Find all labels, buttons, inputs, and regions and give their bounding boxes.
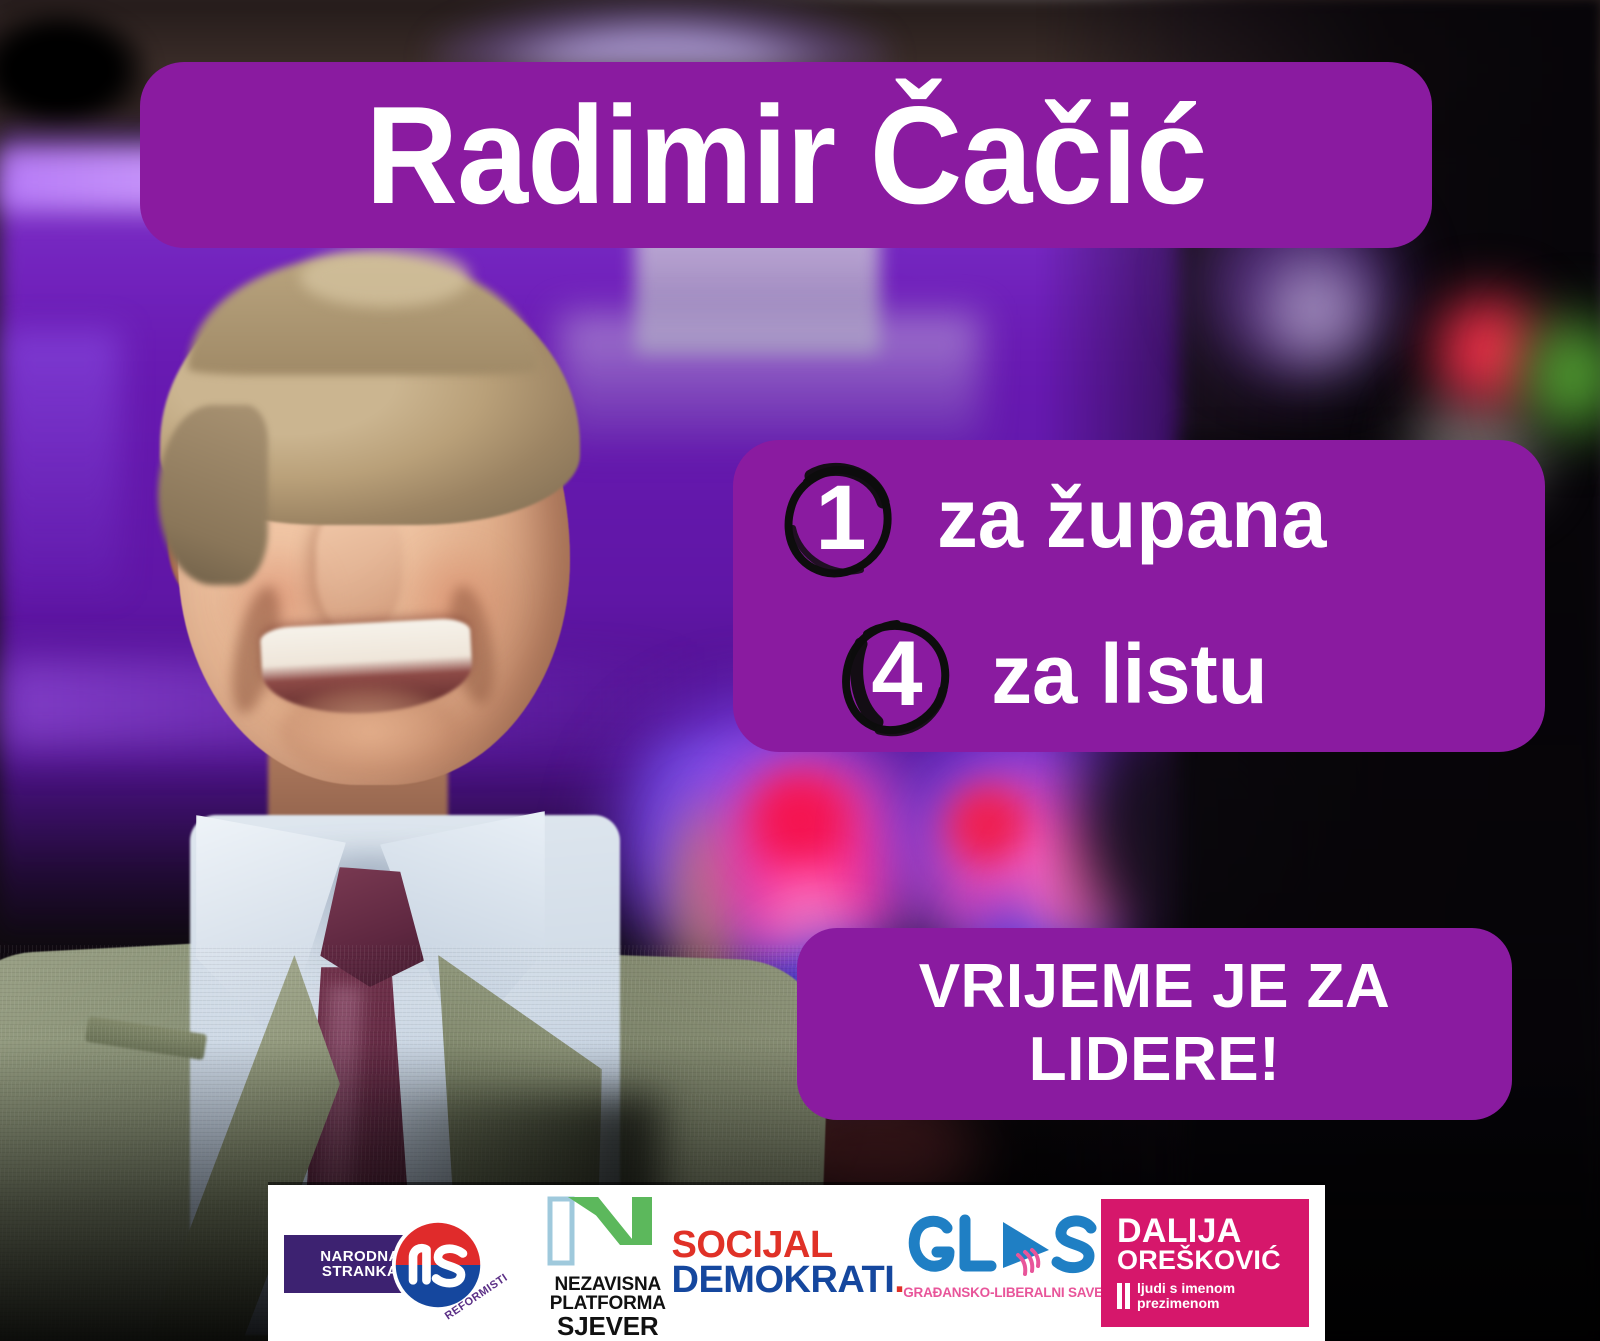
candidate-name: Radimir Čačić <box>366 86 1207 225</box>
hair-wisp <box>300 247 470 307</box>
logo-nezavisna-platforma-sjever: NEZAVISNA PLATFORMA SJEVER <box>546 1195 670 1331</box>
vote-instruction-row: 4 za listu <box>733 596 1545 752</box>
vote-instruction-label: za župana <box>937 476 1326 560</box>
ballot-number-value: 1 <box>815 472 866 564</box>
double-bar-icon <box>1117 1283 1130 1309</box>
hair-side <box>158 405 268 585</box>
candidate-name-banner: Radimir Čačić <box>140 62 1432 248</box>
reformisti-wordmark: REFORMISTI <box>434 1271 554 1317</box>
bokeh-white-topright <box>1250 250 1380 370</box>
ceiling-glow <box>430 0 890 70</box>
dalija-tagline-1: ljudi s imenom <box>1137 1281 1235 1296</box>
slogan-line-2: LIDERE! <box>1029 1027 1281 1094</box>
nps-line-3: SJEVER <box>546 1313 670 1339</box>
dalija-tagline: ljudi s imenom prezimenom <box>1117 1281 1309 1310</box>
logo-dalija-oreskovic: DALIJA OREŠKOVIĆ ljudi s imenom prezimen… <box>1101 1199 1309 1327</box>
ballot-number-1: 1 <box>777 454 905 582</box>
nps-line-1: NEZAVISNA <box>546 1275 670 1294</box>
logo-socijal-demokrati: SOCIJAL DEMOKRATI. <box>672 1228 902 1298</box>
ballot-number-value: 4 <box>871 628 922 720</box>
vote-instruction-label: za listu <box>991 632 1267 716</box>
socijal-demokrati-line-2: DEMOKRATI. <box>672 1263 905 1298</box>
logo-narodna-stranka-reformisti: NARODNA STRANKA REFORMISTI <box>284 1207 544 1319</box>
chin <box>280 687 460 777</box>
narodna-stranka-line-2: STRANKA <box>322 1264 398 1279</box>
glas-wordmark-icon <box>903 1210 1099 1280</box>
campaign-poster: Radimir Čačić 1 za župana 4 <box>0 0 1600 1341</box>
dalija-line-2: OREŠKOVIĆ <box>1117 1247 1309 1274</box>
slogan-line-1: VRIJEME JE ZA <box>919 954 1391 1021</box>
glas-subtitle: GRAĐANSKO-LIBERALNI SAVEZ <box>903 1285 1099 1300</box>
vote-instruction-row: 1 za župana <box>733 440 1545 596</box>
reformisti-label: REFORMISTI <box>443 1272 510 1323</box>
slogan-card: VRIJEME JE ZA LIDERE! <box>797 928 1512 1120</box>
narodna-stranka-line-1: NARODNA <box>320 1249 399 1264</box>
socijal-demokrati-line-1: SOCIJAL <box>672 1228 905 1263</box>
dalija-line-1: DALIJA <box>1117 1215 1309 1247</box>
logo-glas: GRAĐANSKO-LIBERALNI SAVEZ <box>903 1210 1099 1316</box>
ballot-number-4: 4 <box>833 610 961 738</box>
nps-n-mark-icon <box>546 1195 654 1267</box>
dalija-tagline-2: prezimenom <box>1137 1296 1235 1311</box>
vote-instructions-card: 1 za župana 4 za listu <box>733 440 1545 752</box>
coalition-logo-bar: NARODNA STRANKA REFORMISTI <box>268 1185 1325 1341</box>
socijal-demokrati-line-2-text: DEMOKRATI <box>672 1259 895 1301</box>
